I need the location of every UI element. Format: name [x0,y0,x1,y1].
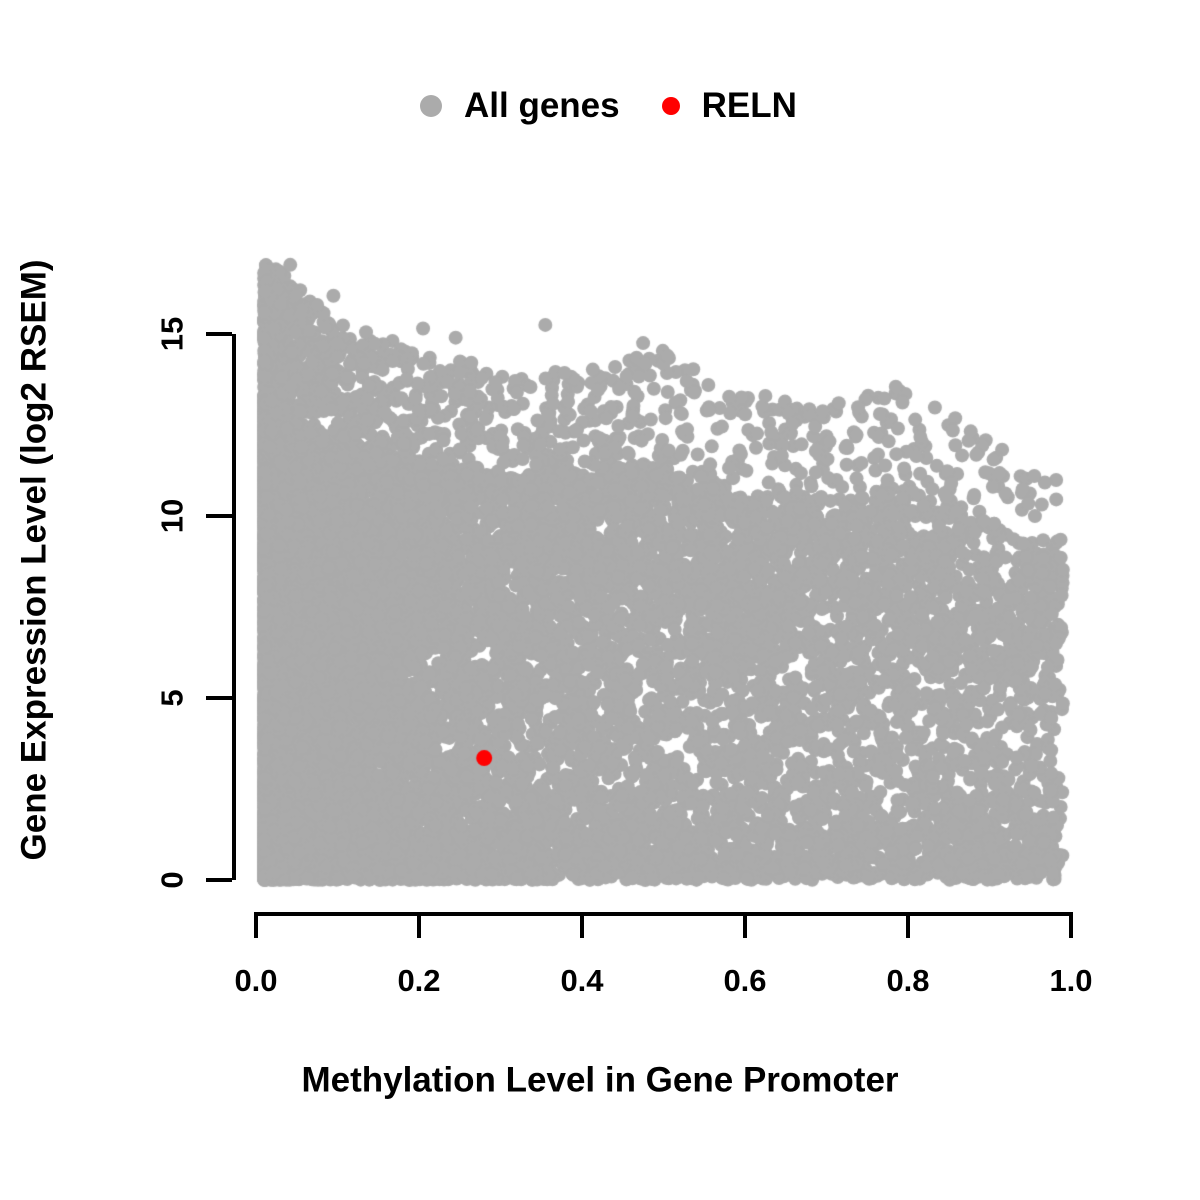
x-axis-tick [1069,912,1073,938]
legend-label-all-genes: All genes [464,88,620,123]
y-axis-tick [206,514,232,518]
x-axis-tick-label: 0.6 [723,965,766,996]
legend-item-all-genes: All genes [420,88,662,123]
legend-item-reln: RELN [662,88,797,123]
x-axis-tick-label: 0.4 [560,965,603,996]
x-axis-tick-label: 0.8 [886,965,929,996]
x-axis-tick-label: 0.2 [397,965,440,996]
y-axis-tick-label: 10 [157,499,188,533]
x-axis-title: Methylation Level in Gene Promoter [301,1063,898,1098]
y-axis-tick [206,332,232,336]
scatter-plot-canvas [0,0,1200,1200]
y-axis-tick [206,878,232,882]
x-axis-tick-label: 1.0 [1049,965,1092,996]
x-axis-line [256,912,1071,916]
legend-label-reln: RELN [702,88,797,123]
scatter-plot-figure: All genes RELN Methylation Level in Gene… [0,0,1200,1200]
y-axis-tick-label: 0 [157,871,188,888]
y-axis-tick [206,696,232,700]
y-axis-tick-label: 15 [157,317,188,351]
x-axis-tick [417,912,421,938]
legend-dot-reln [662,97,680,115]
x-axis-tick [743,912,747,938]
chart-legend: All genes RELN [420,88,797,123]
x-axis-tick [906,912,910,938]
y-axis-tick-label: 5 [157,689,188,706]
y-axis-line [232,334,236,880]
y-axis-title: Gene Expression Level (log2 RSEM) [17,260,52,861]
x-axis-tick-label: 0.0 [234,965,277,996]
x-axis-tick [580,912,584,938]
legend-dot-all-genes [420,95,442,117]
x-axis-tick [254,912,258,938]
